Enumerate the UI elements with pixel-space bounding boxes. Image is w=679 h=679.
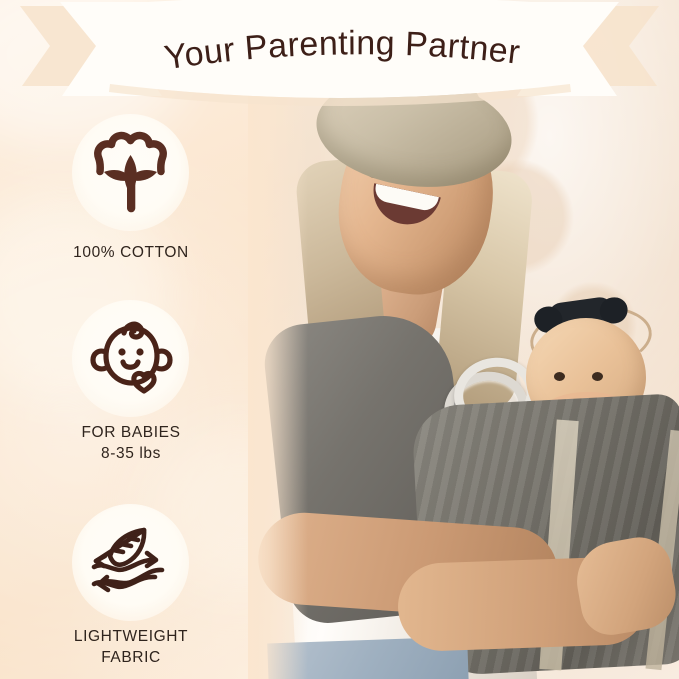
feature-label-babies: FOR BABIES 8-35 lbs [0, 422, 262, 464]
feature-label-line2: FABRIC [0, 647, 262, 668]
feature-item-lightweight: LIGHTWEIGHT FABRIC [0, 496, 262, 679]
banner-ribbon-shape: Your Parenting Partner [0, 0, 679, 120]
headline-banner: Your Parenting Partner [0, 0, 679, 120]
baby-eye-left [554, 372, 565, 381]
feature-list: 100% COTTON [0, 104, 262, 679]
feather-fabric-waves-icon [72, 504, 189, 621]
feature-label-line1: FOR BABIES [0, 422, 262, 443]
baby-face-heart-icon [72, 300, 189, 417]
baby-eye-right [592, 372, 603, 381]
feature-label-lightweight: LIGHTWEIGHT FABRIC [0, 626, 262, 668]
feature-item-babies: FOR BABIES 8-35 lbs [0, 294, 262, 496]
feature-label-line2: 8-35 lbs [0, 443, 262, 464]
feature-label-cotton: 100% COTTON [0, 242, 262, 263]
feature-label-line1: LIGHTWEIGHT [0, 626, 262, 647]
product-feature-graphic: Your Parenting Partner [0, 0, 679, 679]
cotton-boll-icon [72, 114, 189, 231]
feature-item-cotton: 100% COTTON [0, 104, 262, 294]
